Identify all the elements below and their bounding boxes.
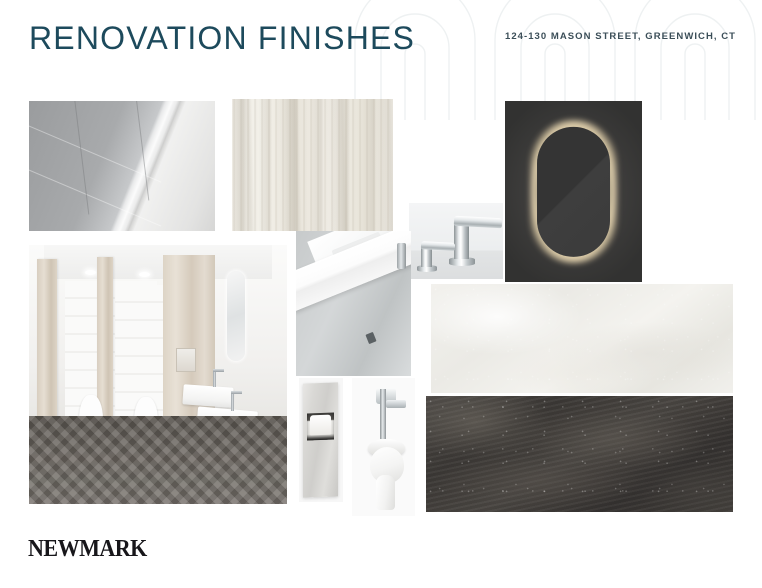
swatch-whitewashed-oak-veneer — [232, 99, 393, 231]
image-chrome-deck-mount-faucet — [409, 203, 503, 279]
image-recessed-paper-towel-dispenser — [299, 378, 343, 502]
restroom-faucet — [231, 391, 234, 411]
flush-valve-pipe — [380, 389, 386, 439]
stone-speckle-texture — [426, 396, 733, 512]
faucet-column — [421, 247, 432, 267]
image-restroom-interior-render — [29, 245, 287, 504]
restroom-downlight — [139, 272, 150, 277]
restroom-downlight — [85, 270, 96, 275]
newmark-logo: NEWMARK — [28, 537, 147, 561]
image-white-solid-surface-countertop — [296, 231, 411, 376]
image-backlit-oval-mirror — [505, 101, 642, 282]
dispenser-paper-roll — [310, 415, 331, 436]
image-acoustic-ceiling-cove-lighting — [29, 101, 215, 231]
restroom-chevron-floor — [29, 416, 287, 504]
ceiling-grid-line — [29, 167, 161, 227]
swatch-light-porcelain-stone-tile — [431, 284, 733, 393]
image-floor-mount-toilet-flush-valve — [352, 378, 415, 516]
restroom-faucet — [213, 369, 216, 387]
stone-speckle-texture — [431, 284, 733, 393]
flush-valve-handle — [386, 400, 406, 408]
ceiling-grid-line — [134, 101, 150, 201]
restroom-soap-dispenser — [176, 348, 196, 372]
page-title: RENOVATION FINISHES — [29, 22, 415, 54]
swatch-dark-charcoal-slate-tile — [426, 396, 733, 512]
toilet-base — [376, 475, 395, 511]
property-address: 124-130 MASON STREET, GREENWICH, CT — [505, 31, 736, 42]
mirror-glass — [537, 126, 611, 256]
restroom-lavatory — [182, 384, 233, 407]
restroom-oval-mirror — [227, 271, 245, 361]
faucet-column — [454, 223, 469, 259]
soap-dispenser — [397, 243, 406, 269]
ceiling-grid-line — [74, 101, 90, 215]
presentation-slide: RENOVATION FINISHES 124-130 MASON STREET… — [0, 0, 762, 588]
faucet-spout — [421, 241, 455, 251]
